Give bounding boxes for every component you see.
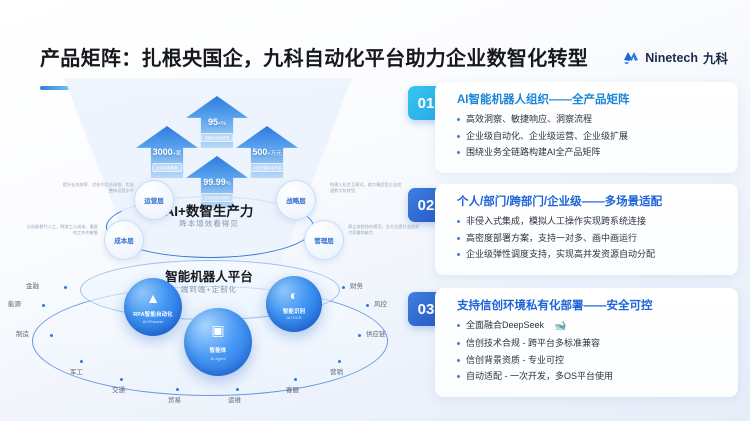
layer-node-operations[interactable]: 运营层 <box>134 180 174 220</box>
sphere-subtitle: AI+OCR <box>266 315 322 320</box>
feature-card: 个人/部门/跨部门/企业级——多场景适配 非侵入式集成，模拟人工操作实现跨系统连… <box>435 184 738 275</box>
feature-list-item: 围绕业务全链路构建AI全产品矩阵 <box>457 146 726 160</box>
feature-item-text: 高密度部署方案，支持一对多、画中画运行 <box>466 232 637 246</box>
industry-dot <box>176 388 179 391</box>
layer-desc-operations: 提升业务效率、优化中后台流程、实现整体运营水平 <box>60 182 134 195</box>
industry-dot <box>236 388 239 391</box>
platform-sphere-ocr[interactable]: ◐ 智能识别 AI+OCR <box>266 276 322 332</box>
feature-block-02: 02 个人/部门/跨部门/企业级——多场景适配 非侵入式集成，模拟人工操作实现跨… <box>408 184 738 275</box>
feature-card-title: 个人/部门/跨部门/企业级——多场景适配 <box>457 193 726 209</box>
sphere-subtitle: AI Agent <box>184 356 252 361</box>
rpa-flow-icon: ▲ <box>124 291 182 305</box>
bullet-icon <box>457 342 460 345</box>
feature-list-item: 企业级自动化、企业级运营、企业级扩展 <box>457 130 726 144</box>
industry-label-support: 客服 <box>286 384 299 394</box>
feature-block-03: 03 支持信创环境私有化部署——安全可控 全面融合DeepSeek🐋 信创技术合… <box>408 288 738 397</box>
sphere-name: 智能体 <box>184 346 252 354</box>
logo-text-cn: 九科 <box>703 48 728 67</box>
slide-root: 产品矩阵：扎根央国企，九科自动化平台助力企业数智化转型 Ninetech 九科 … <box>0 0 750 421</box>
feature-list-item: 高密度部署方案，支持一对多、画中画运行 <box>457 232 726 246</box>
feature-item-text: 自动适配 - 一次开发，多OS平台使用 <box>466 370 613 384</box>
layer-desc-strategy: 构建人机交互模式，助力集团型企业加速数字化转型 <box>330 182 404 195</box>
feature-list-item: 自动适配 - 一次开发，多OS平台使用 <box>457 370 726 384</box>
layer-desc-cost: 以机器替代人工，释放工人成本、重复的工作中解脱 <box>24 224 98 237</box>
industry-dot <box>294 378 297 381</box>
platform-sphere-agent[interactable]: ▣ 智能体 AI Agent <box>184 308 252 376</box>
industry-label-ops: 运维 <box>228 394 241 404</box>
ninetech-logo-icon <box>623 50 640 65</box>
industry-dot <box>342 286 345 289</box>
architecture-diagram: 3000+家 业务场景覆盖 95+% 流程自动化提效 99.99% 业务流程正确… <box>8 78 408 408</box>
bullet-icon <box>457 220 460 223</box>
metric-value: 500+万元 <box>236 147 298 157</box>
page-title: 产品矩阵：扎根央国企，九科自动化平台助力企业数智化转型 <box>40 42 588 71</box>
feature-list-item: 企业级弹性调度支持，实现高并发资源自动分配 <box>457 248 726 262</box>
sphere-name: 智能识别 <box>266 307 322 315</box>
arrow-shape-icon: 500+万元 人效产能年均节省 <box>236 126 298 178</box>
feature-item-text: 围绕业务全链路构建AI全产品矩阵 <box>466 146 601 160</box>
feature-card: 支持信创环境私有化部署——安全可控 全面融合DeepSeek🐋 信创技术合规 -… <box>435 288 738 397</box>
feature-item-text: 高效洞察、敏捷响应、洞察流程 <box>466 113 592 127</box>
feature-card: AI智能机器人组织——全产品矩阵 高效洞察、敏捷响应、洞察流程 企业级自动化、企… <box>435 82 738 173</box>
metric-arrow: 500+万元 人效产能年均节省 <box>236 126 298 178</box>
feature-item-text: 企业级弹性调度支持，实现高并发资源自动分配 <box>466 248 655 262</box>
bullet-icon <box>457 118 460 121</box>
logo-text: Ninetech <box>645 51 698 65</box>
feature-panel: 01 AI智能机器人组织——全产品矩阵 高效洞察、敏捷响应、洞察流程 企业级自动… <box>408 78 738 398</box>
sphere-subtitle: AI+Process <box>124 319 182 324</box>
industry-dot <box>366 304 369 307</box>
metric-tag: 业务场景覆盖 <box>152 163 182 172</box>
platform-sphere-rpa[interactable]: ▲ RPA智能自动化 AI+Process <box>124 278 182 336</box>
feature-list-item: 非侵入式集成，模拟人工操作实现跨系统连接 <box>457 215 726 229</box>
feature-list-item: 信创背景资质 - 专业可控 <box>457 354 726 368</box>
industry-label-riskcontrol: 风控 <box>374 298 387 308</box>
industry-dot <box>120 378 123 381</box>
feature-block-01: 01 AI智能机器人组织——全产品矩阵 高效洞察、敏捷响应、洞察流程 企业级自动… <box>408 82 738 173</box>
feature-card-title: AI智能机器人组织——全产品矩阵 <box>457 91 726 107</box>
feature-list-item: 信创技术合规 - 跨平台多标准兼容 <box>457 337 726 351</box>
feature-list-item: 高效洞察、敏捷响应、洞察流程 <box>457 113 726 127</box>
feature-card-title: 支持信创环境私有化部署——安全可控 <box>457 297 726 313</box>
industry-dot <box>42 304 45 307</box>
ai-agent-icon: ▣ <box>184 323 252 337</box>
industry-label-supplychain: 供应链 <box>366 328 386 338</box>
metric-tag: 流程自动化提效 <box>200 133 233 142</box>
industry-dot <box>358 334 361 337</box>
metric-value: 99.99% <box>186 177 248 187</box>
slide-header: 产品矩阵：扎根央国企，九科自动化平台助力企业数智化转型 Ninetech 九科 <box>0 18 750 62</box>
bullet-icon <box>457 151 460 154</box>
industry-label-finance-dept: 财务 <box>350 280 363 290</box>
industry-label-manufacturing: 制造 <box>16 328 29 338</box>
industry-label-military: 军工 <box>70 366 83 376</box>
feature-list-item: 全面融合DeepSeek🐋 <box>457 319 726 334</box>
deepseek-whale-icon: 🐋 <box>554 319 566 334</box>
sphere-name: RPA智能自动化 <box>124 310 182 318</box>
layer-node-management[interactable]: 管理层 <box>304 220 344 260</box>
bullet-icon <box>457 375 460 378</box>
industry-dot <box>64 286 67 289</box>
industry-dot <box>50 334 53 337</box>
bullet-icon <box>457 253 460 256</box>
feature-item-text: 全面融合DeepSeek <box>466 319 544 333</box>
ocr-scan-icon: ◐ <box>266 288 322 302</box>
bullet-icon <box>457 135 460 138</box>
bullet-icon <box>457 237 460 240</box>
brand-logo: Ninetech 九科 <box>623 48 728 67</box>
feature-item-text: 信创背景资质 - 专业可控 <box>466 354 564 368</box>
layer-node-strategy[interactable]: 战略层 <box>276 180 316 220</box>
bullet-icon <box>457 324 460 327</box>
industry-dot <box>338 360 341 363</box>
feature-item-text: 信创技术合规 - 跨平台多标准兼容 <box>466 337 600 351</box>
industry-label-energy: 能源 <box>8 298 21 308</box>
industry-dot <box>80 360 83 363</box>
layer-node-cost[interactable]: 成本层 <box>104 220 144 260</box>
industry-label-transport: 交通 <box>112 384 125 394</box>
industry-label-trade: 贸易 <box>168 394 181 404</box>
feature-item-text: 非侵入式集成，模拟人工操作实现跨系统连接 <box>466 215 646 229</box>
feature-item-text: 企业级自动化、企业级运营、企业级扩展 <box>466 130 628 144</box>
industry-label-marketing: 营销 <box>330 366 343 376</box>
bullet-icon <box>457 359 460 362</box>
industry-label-finance: 金融 <box>26 280 39 290</box>
metric-tag: 人效产能年均节省 <box>249 163 286 172</box>
